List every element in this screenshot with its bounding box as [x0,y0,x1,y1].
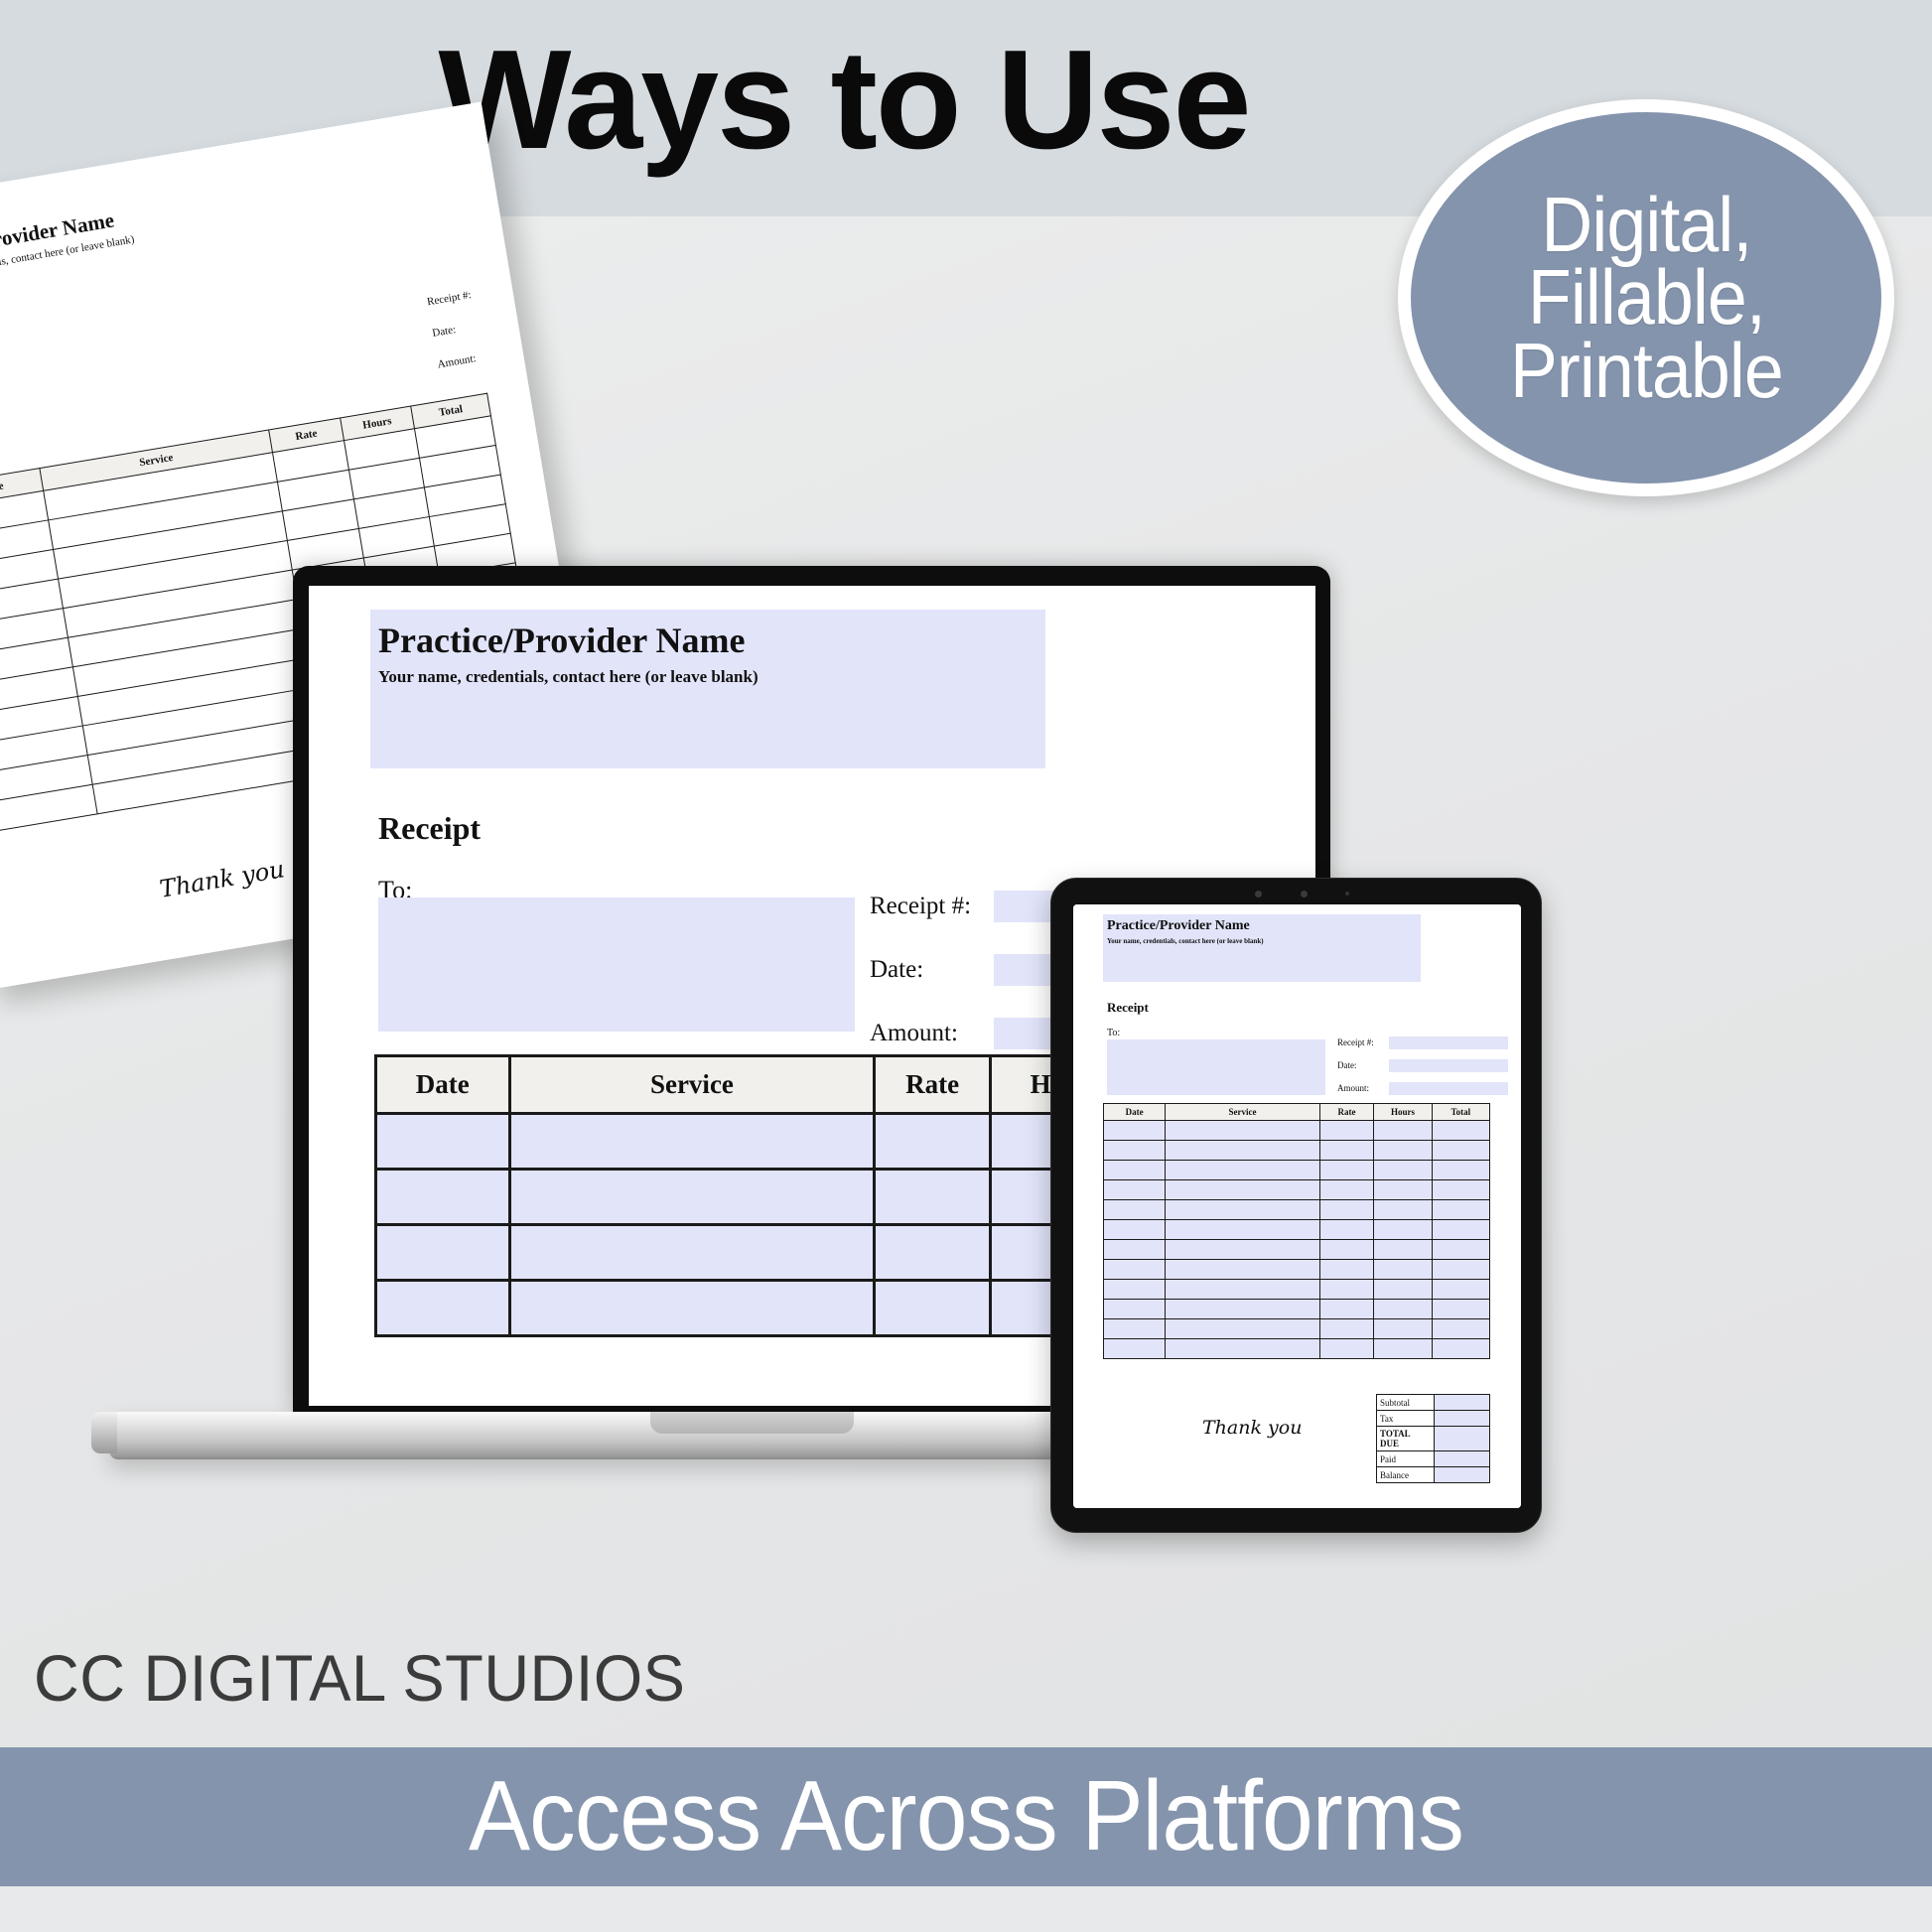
tablet-screen: Practice/Provider Name Your name, creden… [1073,904,1521,1508]
totals-value-balance[interactable] [1435,1467,1490,1483]
tablet-doc-title: Practice/Provider Name [1107,918,1250,934]
totals-value-total-due[interactable] [1435,1427,1490,1451]
totals-label-subtotal: Subtotal [1377,1395,1435,1411]
tablet-field-receipt-no[interactable] [1389,1036,1508,1049]
tablet-label-receipt-no: Receipt #: [1337,1037,1389,1047]
tablet-meta-row-amount: Amount: [1337,1079,1516,1097]
totals-row-balance: Balance [1377,1467,1490,1483]
table-row [1104,1141,1490,1161]
laptop-base-left-edge [91,1412,117,1453]
tablet-col-service: Service [1166,1104,1320,1121]
tablet-meta-row-receipt-no: Receipt #: [1337,1034,1516,1051]
table-row [1104,1300,1490,1319]
paper-meta-amount: Amount: [435,343,484,381]
totals-value-paid[interactable] [1435,1451,1490,1467]
table-row [1104,1240,1490,1260]
table-row [1104,1280,1490,1300]
laptop-col-date: Date [376,1056,510,1114]
table-row [1104,1161,1490,1180]
totals-label-tax: Tax [1377,1411,1435,1427]
laptop-col-service: Service [509,1056,875,1114]
totals-value-tax[interactable] [1435,1411,1490,1427]
tablet-col-hours: Hours [1374,1104,1432,1121]
badge-circle: Digital, Fillable, Printable [1398,99,1894,496]
tablet-meta-row-date: Date: [1337,1056,1516,1074]
tablet-mockup: Practice/Provider Name Your name, creden… [1050,878,1542,1533]
table-row [1104,1319,1490,1339]
tablet-label-date: Date: [1337,1060,1389,1070]
laptop-label-amount: Amount: [870,1020,994,1047]
table-row [1104,1180,1490,1200]
laptop-col-rate: Rate [875,1056,991,1114]
table-row [1104,1200,1490,1220]
laptop-doc-title: Practice/Provider Name [378,620,746,661]
tablet-thank-you: Thank you [1202,1417,1302,1439]
tablet-field-amount[interactable] [1389,1082,1508,1095]
laptop-label-date: Date: [870,956,994,984]
tablet-col-date: Date [1104,1104,1166,1121]
tablet-col-rate: Rate [1319,1104,1373,1121]
tablet-meta-block: Receipt #: Date: Amount: [1337,1034,1516,1102]
tablet-table-header-row: Date Service Rate Hours Total [1104,1104,1490,1121]
totals-row-tax: Tax [1377,1411,1490,1427]
totals-value-subtotal[interactable] [1435,1395,1490,1411]
laptop-base-notch [650,1412,854,1434]
totals-label-total-due: TOTAL DUE [1377,1427,1435,1451]
table-row [1104,1339,1490,1359]
tablet-camera-icon [1255,890,1349,897]
table-row [1104,1121,1490,1141]
badge-label: Digital, Fillable, Printable [1510,189,1783,407]
tablet-to-field[interactable] [1107,1039,1325,1095]
bottom-banner-label: Access Across Platforms [68,1759,1864,1873]
tablet-doc-subtitle: Your name, credentials, contact here (or… [1107,937,1264,945]
tablet-section-heading: Receipt [1107,1000,1149,1016]
totals-row-subtotal: Subtotal [1377,1395,1490,1411]
tablet-camera-dot [1301,891,1308,897]
tablet-table-body [1104,1121,1490,1359]
tablet-camera-dot [1255,891,1262,897]
footer-band [0,1886,1932,1932]
tablet-body: Practice/Provider Name Your name, creden… [1050,878,1542,1533]
totals-label-paid: Paid [1377,1451,1435,1467]
laptop-to-field[interactable] [378,897,855,1032]
totals-row-total-due: TOTAL DUE [1377,1427,1490,1451]
tablet-to-label: To: [1107,1028,1120,1038]
totals-row-paid: Paid [1377,1451,1490,1467]
tablet-totals-table: Subtotal Tax TOTAL DUE [1376,1394,1490,1483]
laptop-section-heading: Receipt [378,810,481,847]
feature-badge: Digital, Fillable, Printable [1398,99,1894,496]
paper-meta-block: Receipt #: Date: Amount: [425,280,484,381]
laptop-doc-subtitle: Your name, credentials, contact here (or… [378,667,759,687]
table-row [1104,1220,1490,1240]
tablet-totals-block: Subtotal Tax TOTAL DUE [1376,1394,1490,1483]
tablet-label-amount: Amount: [1337,1083,1389,1093]
tablet-line-items-table: Date Service Rate Hours Total [1103,1103,1490,1359]
tablet-receipt-document: Practice/Provider Name Your name, creden… [1073,904,1521,1508]
brand-name: CC DIGITAL STUDIOS [34,1640,685,1716]
tablet-field-date[interactable] [1389,1059,1508,1072]
product-mockup-graphic: Ways to Use Practice/Provider Name Your … [0,0,1932,1932]
laptop-label-receipt-no: Receipt #: [870,893,994,920]
tablet-col-total: Total [1432,1104,1489,1121]
tablet-sensor-dot [1345,892,1349,896]
table-row [1104,1260,1490,1280]
totals-label-balance: Balance [1377,1467,1435,1483]
